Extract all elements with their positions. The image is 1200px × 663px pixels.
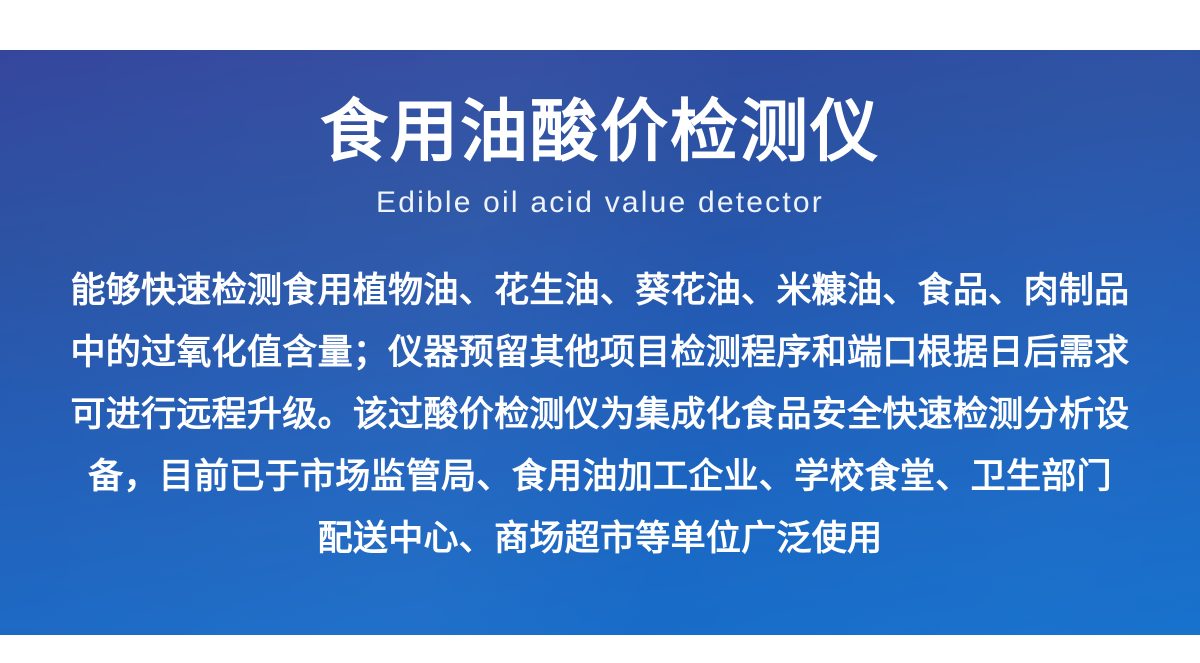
description-line: 备，目前已于市场监管局、食用油加工企业、学校食堂、卫生部门 (0, 446, 1200, 508)
promo-banner: 食用油酸价检测仪 Edible oil acid value detector … (0, 50, 1200, 635)
description-line: 可进行远程升级。该过酸价检测仪为集成化食品安全快速检测分析设 (0, 384, 1200, 446)
product-description: 能够快速检测食用植物油、花生油、葵花油、米糠油、食品、肉制品 中的过氧化值含量；… (0, 218, 1200, 570)
description-line: 能够快速检测食用植物油、花生油、葵花油、米糠油、食品、肉制品 (0, 260, 1200, 322)
page-subtitle: Edible oil acid value detector (0, 166, 1200, 218)
description-line: 中的过氧化值含量；仪器预留其他项目检测程序和端口根据日后需求 (0, 322, 1200, 384)
banner-content: 食用油酸价检测仪 Edible oil acid value detector … (0, 50, 1200, 570)
description-line: 配送中心、商场超市等单位广泛使用 (0, 508, 1200, 570)
page-title: 食用油酸价检测仪 (0, 50, 1200, 166)
